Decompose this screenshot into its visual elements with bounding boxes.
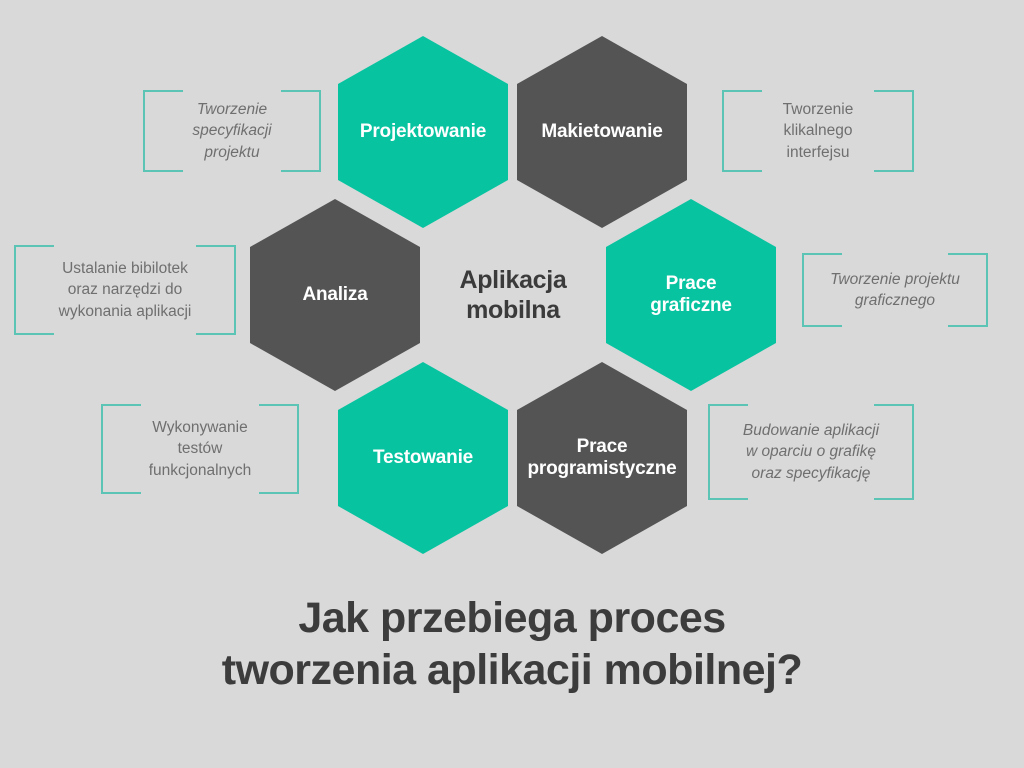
hexagon-label-projektowanie: Projektowanie [360, 121, 486, 143]
caption-text: Wykonywanietestówfunkcjonalnych [141, 417, 260, 481]
caption-line: testów [178, 440, 223, 457]
hexagon-label-line1: Prace [666, 273, 717, 294]
caption-line: projektu [204, 144, 259, 161]
caption-specyfikacja: Tworzeniespecyfikacjiprojektu [143, 90, 321, 172]
caption-line: wykonania aplikacji [59, 303, 192, 320]
bracket-right-icon [874, 90, 914, 172]
caption-line: oraz narzędzi do [68, 281, 183, 298]
caption-line: specyfikacji [192, 122, 271, 139]
title-line-2: tworzenia aplikacji mobilnej? [0, 644, 1024, 696]
title-line-1: Jak przebiega proces [0, 592, 1024, 644]
bracket-left-icon [101, 404, 141, 494]
caption-line: w oparciu o grafikę [746, 443, 876, 460]
bracket-right-icon [196, 245, 236, 335]
hexagon-prace-programistyczne[interactable]: Praceprogramistyczne [517, 362, 687, 554]
caption-text: Tworzeniespecyfikacjiprojektu [184, 99, 279, 163]
hexagon-testowanie[interactable]: Testowanie [338, 362, 508, 554]
hexagon-prace-graficzne[interactable]: Pracegraficzne [606, 199, 776, 391]
caption-line: Ustalanie bibilotek [62, 260, 188, 277]
bracket-left-icon [14, 245, 54, 335]
infographic-canvas: Projektowanie Makietowanie Analiza Aplik… [0, 0, 1024, 768]
hexagon-label-analiza: Analiza [302, 284, 367, 306]
hexagon-label-makietowanie: Makietowanie [541, 121, 662, 143]
caption-line: graficznego [855, 292, 935, 309]
page-title: Jak przebiega proces tworzenia aplikacji… [0, 592, 1024, 697]
hexagon-label-testowanie: Testowanie [373, 447, 473, 469]
caption-text: Tworzenie projektugraficznego [822, 269, 968, 312]
center-label-line1: Aplikacja [459, 266, 566, 294]
caption-biblioteki: Ustalanie bibilotekoraz narzędzi dowykon… [14, 245, 236, 335]
bracket-right-icon [281, 90, 321, 172]
caption-text: Budowanie aplikacjiw oparciu o grafikęor… [735, 420, 887, 484]
caption-text: Ustalanie bibilotekoraz narzędzi dowykon… [51, 258, 200, 322]
caption-line: Budowanie aplikacji [743, 422, 879, 439]
bracket-right-icon [259, 404, 299, 494]
caption-testy-funkcjonalne: Wykonywanietestówfunkcjonalnych [101, 404, 299, 494]
caption-line: Tworzenie projektu [830, 271, 960, 288]
caption-line: Tworzenie [783, 101, 854, 118]
hexagon-label-line2: graficzne [650, 295, 732, 316]
caption-line: Tworzenie [197, 101, 267, 118]
center-label-line2: mobilna [466, 296, 560, 324]
hexagon-projektowanie[interactable]: Projektowanie [338, 36, 508, 228]
hexagon-label-line2: programistyczne [527, 458, 676, 479]
hexagon-analiza[interactable]: Analiza [250, 199, 420, 391]
caption-line: interfejsu [787, 144, 850, 161]
caption-line: oraz specyfikację [752, 465, 871, 482]
caption-line: funkcjonalnych [149, 462, 252, 479]
caption-projekt-graficzny: Tworzenie projektugraficznego [802, 253, 988, 327]
caption-line: klikalnego [784, 122, 853, 139]
bracket-left-icon [143, 90, 183, 172]
center-label: Aplikacjamobilna [459, 265, 566, 325]
caption-line: Wykonywanie [152, 419, 247, 436]
hexagon-center-aplikacja-mobilna: Aplikacjamobilna [428, 199, 598, 391]
hexagon-label-prace-programistyczne: Praceprogramistyczne [527, 436, 676, 481]
caption-text: Tworzenieklikalnegointerfejsu [775, 99, 862, 163]
hexagon-label-line1: Prace [577, 436, 628, 457]
bracket-left-icon [722, 90, 762, 172]
hexagon-label-prace-graficzne: Pracegraficzne [650, 273, 732, 318]
caption-budowanie-aplikacji: Budowanie aplikacjiw oparciu o grafikęor… [708, 404, 914, 500]
hexagon-makietowanie[interactable]: Makietowanie [517, 36, 687, 228]
caption-klikalny-interfejs: Tworzenieklikalnegointerfejsu [722, 90, 914, 172]
